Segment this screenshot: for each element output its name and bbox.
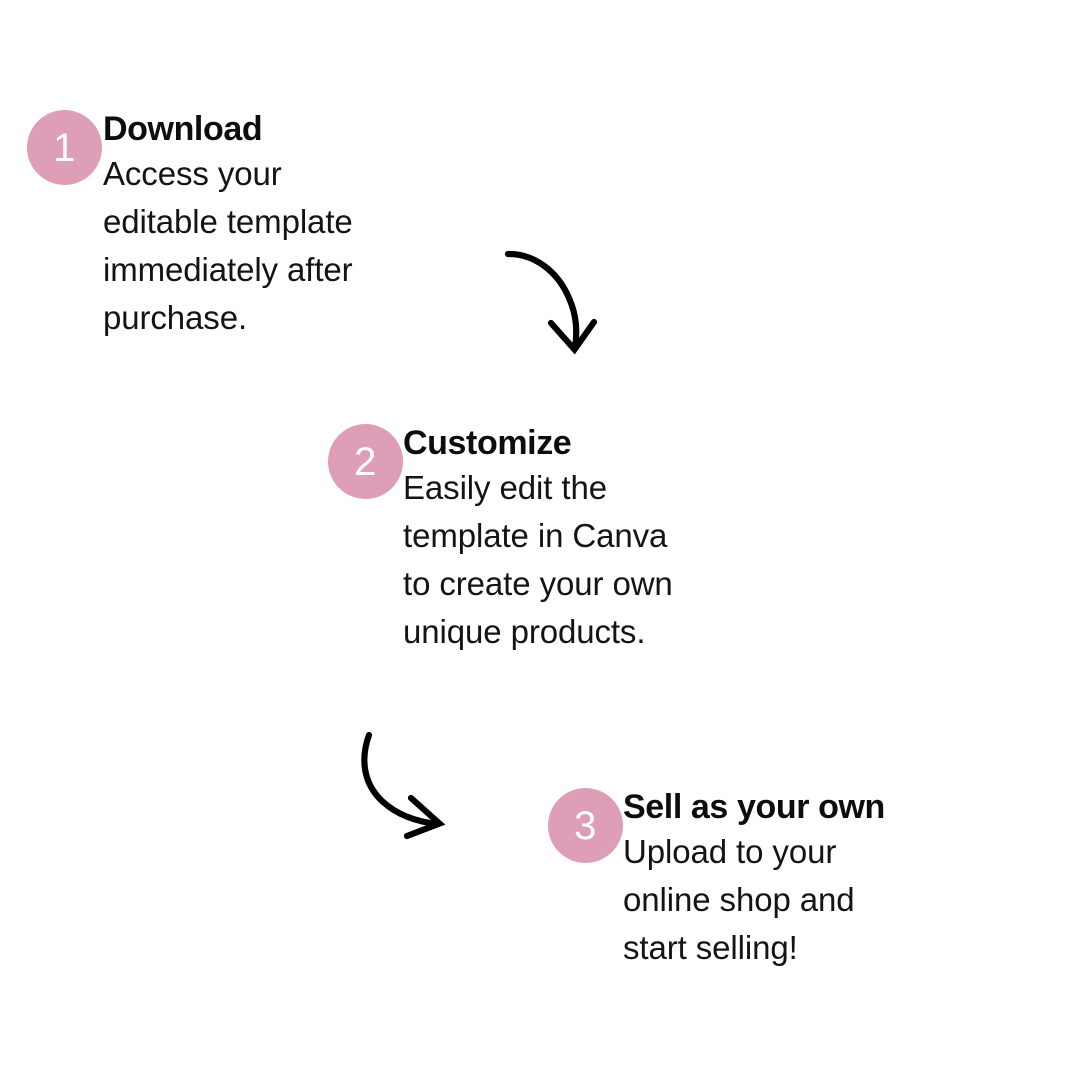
step-body-line: editable template: [103, 198, 353, 246]
step-title-3: Sell as your own: [623, 786, 885, 828]
step-body-3: Upload to your online shop and start sel…: [623, 828, 885, 972]
step-text-block-3: Sell as your own Upload to your online s…: [623, 786, 885, 972]
step-body-line: to create your own: [403, 560, 673, 608]
step-number-1: 1: [53, 128, 76, 168]
step-body-line: Easily edit the: [403, 464, 673, 512]
step-title-2: Customize: [403, 422, 673, 464]
step-body-line: start selling!: [623, 924, 885, 972]
step-body-1: Access your editable template immediatel…: [103, 150, 353, 342]
step-body-line: unique products.: [403, 608, 673, 656]
step-body-line: online shop and: [623, 876, 885, 924]
step-body-line: purchase.: [103, 294, 353, 342]
step-text-block-2: Customize Easily edit the template in Ca…: [403, 422, 673, 656]
step-body-2: Easily edit the template in Canva to cre…: [403, 464, 673, 656]
step-body-line: Upload to your: [623, 828, 885, 876]
step-title-1: Download: [103, 108, 353, 150]
curved-arrow-right-icon: [352, 722, 482, 857]
step-badge-1: 1: [27, 110, 102, 185]
step-body-line: Access your: [103, 150, 353, 198]
step-body-line: template in Canva: [403, 512, 673, 560]
step-text-block-1: Download Access your editable template i…: [103, 108, 353, 342]
curved-arrow-down-icon: [495, 240, 625, 375]
infographic-canvas: 1 Download Access your editable template…: [0, 0, 1080, 1080]
step-badge-2: 2: [328, 424, 403, 499]
step-body-line: immediately after: [103, 246, 353, 294]
step-number-2: 2: [354, 442, 377, 482]
step-badge-3: 3: [548, 788, 623, 863]
step-number-3: 3: [574, 806, 597, 846]
